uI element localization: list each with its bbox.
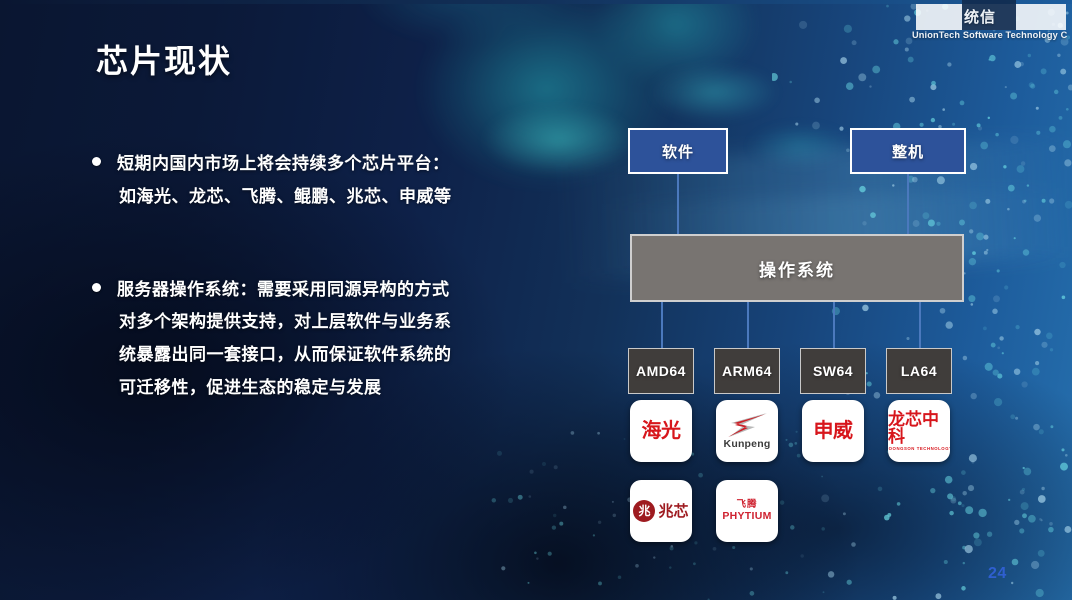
zhaoxin-logo-group: 兆 兆芯 <box>633 500 688 522</box>
logo-tile-zhaoxin[interactable]: 兆 兆芯 <box>630 480 692 542</box>
vendor-logo-row-2: 兆 兆芯 飞腾 PHYTIUM <box>628 480 966 542</box>
loongson-logo-text: 龙芯中科 <box>888 411 950 445</box>
box-arch-amd64[interactable]: AMD64 <box>628 348 694 394</box>
connector-software-to-os <box>677 174 679 234</box>
connector-os-to-sw64 <box>833 302 835 348</box>
connector-os-to-la64 <box>919 302 921 348</box>
zhaoxin-logo-text: 兆芯 <box>658 504 688 519</box>
bullet-line: 统暴露出同一套接口，从而保证软件系统的 <box>117 339 452 372</box>
bullet-list: 短期内国内市场上将会持续多个芯片平台： 如海光、龙芯、飞腾、鲲鹏、兆芯、申威等 … <box>92 148 562 405</box>
logo-tile-phytium[interactable]: 飞腾 PHYTIUM <box>716 480 778 542</box>
bullet-line: 可迁移性，促进生态的稳定与发展 <box>117 372 452 405</box>
architecture-diagram: 软件 整机 操作系统 AMD64 ARM64 SW64 LA64 海光 Kunp <box>628 128 966 558</box>
uniontech-watermark: 统信 UnionTech Software Technology C <box>898 0 1072 46</box>
architecture-row: AMD64 ARM64 SW64 LA64 <box>628 348 966 394</box>
phytium-logo-en-text: PHYTIUM <box>722 511 771 523</box>
bullet-text: 服务器操作系统：需要采用同源异构的方式 对多个架构提供支持，对上层软件与业务系 … <box>117 274 452 405</box>
list-item: 短期内国内市场上将会持续多个芯片平台： 如海光、龙芯、飞腾、鲲鹏、兆芯、申威等 <box>92 148 562 214</box>
connector-os-to-arm64 <box>747 302 749 348</box>
watermark-cn-text: 统信 <box>964 6 996 27</box>
phytium-logo-cn-text: 飞腾 <box>736 500 757 510</box>
logo-tile-kunpeng[interactable]: Kunpeng <box>716 400 778 462</box>
box-arch-la64[interactable]: LA64 <box>886 348 952 394</box>
kunpeng-logo-text: Kunpeng <box>724 439 771 450</box>
bullet-dot-icon <box>92 157 101 166</box>
bullet-line: 如海光、龙芯、飞腾、鲲鹏、兆芯、申威等 <box>117 181 452 214</box>
vendor-logo-row-1: 海光 Kunpeng 申威 龙芯中科 LOONGSON TECHNOLOGY <box>628 400 966 462</box>
connector-machine-to-os <box>907 174 909 234</box>
hygon-logo-text: 海光 <box>642 421 681 441</box>
bullet-dot-icon <box>92 283 101 292</box>
logo-tile-sunway[interactable]: 申威 <box>802 400 864 462</box>
loongson-logo-subtext: LOONGSON TECHNOLOGY <box>888 447 950 451</box>
sunway-logo-text: 申威 <box>814 421 853 441</box>
bullet-text: 短期内国内市场上将会持续多个芯片平台： 如海光、龙芯、飞腾、鲲鹏、兆芯、申威等 <box>117 148 452 214</box>
watermark-en-text: UnionTech Software Technology C <box>912 30 1067 40</box>
logo-tile-loongson[interactable]: 龙芯中科 LOONGSON TECHNOLOGY <box>888 400 950 462</box>
box-complete-machine[interactable]: 整机 <box>850 128 966 174</box>
slide-canvas: 统信 UnionTech Software Technology C 芯片现状 … <box>0 0 1072 600</box>
connector-os-to-amd64 <box>661 302 663 348</box>
page-title: 芯片现状 <box>96 36 232 82</box>
kunpeng-mark-icon <box>725 412 769 438</box>
bullet-line: 短期内国内市场上将会持续多个芯片平台： <box>117 148 452 181</box>
list-item: 服务器操作系统：需要采用同源异构的方式 对多个架构提供支持，对上层软件与业务系 … <box>92 274 562 405</box>
box-arch-sw64[interactable]: SW64 <box>800 348 866 394</box>
box-software[interactable]: 软件 <box>628 128 728 174</box>
bullet-line: 服务器操作系统：需要采用同源异构的方式 <box>117 274 452 307</box>
page-number: 24 <box>988 565 1007 583</box>
box-operating-system[interactable]: 操作系统 <box>630 234 964 302</box>
box-arch-arm64[interactable]: ARM64 <box>714 348 780 394</box>
bullet-line: 对多个架构提供支持，对上层软件与业务系 <box>117 306 452 339</box>
zhaoxin-seal-icon: 兆 <box>633 500 655 522</box>
logo-tile-hygon[interactable]: 海光 <box>630 400 692 462</box>
